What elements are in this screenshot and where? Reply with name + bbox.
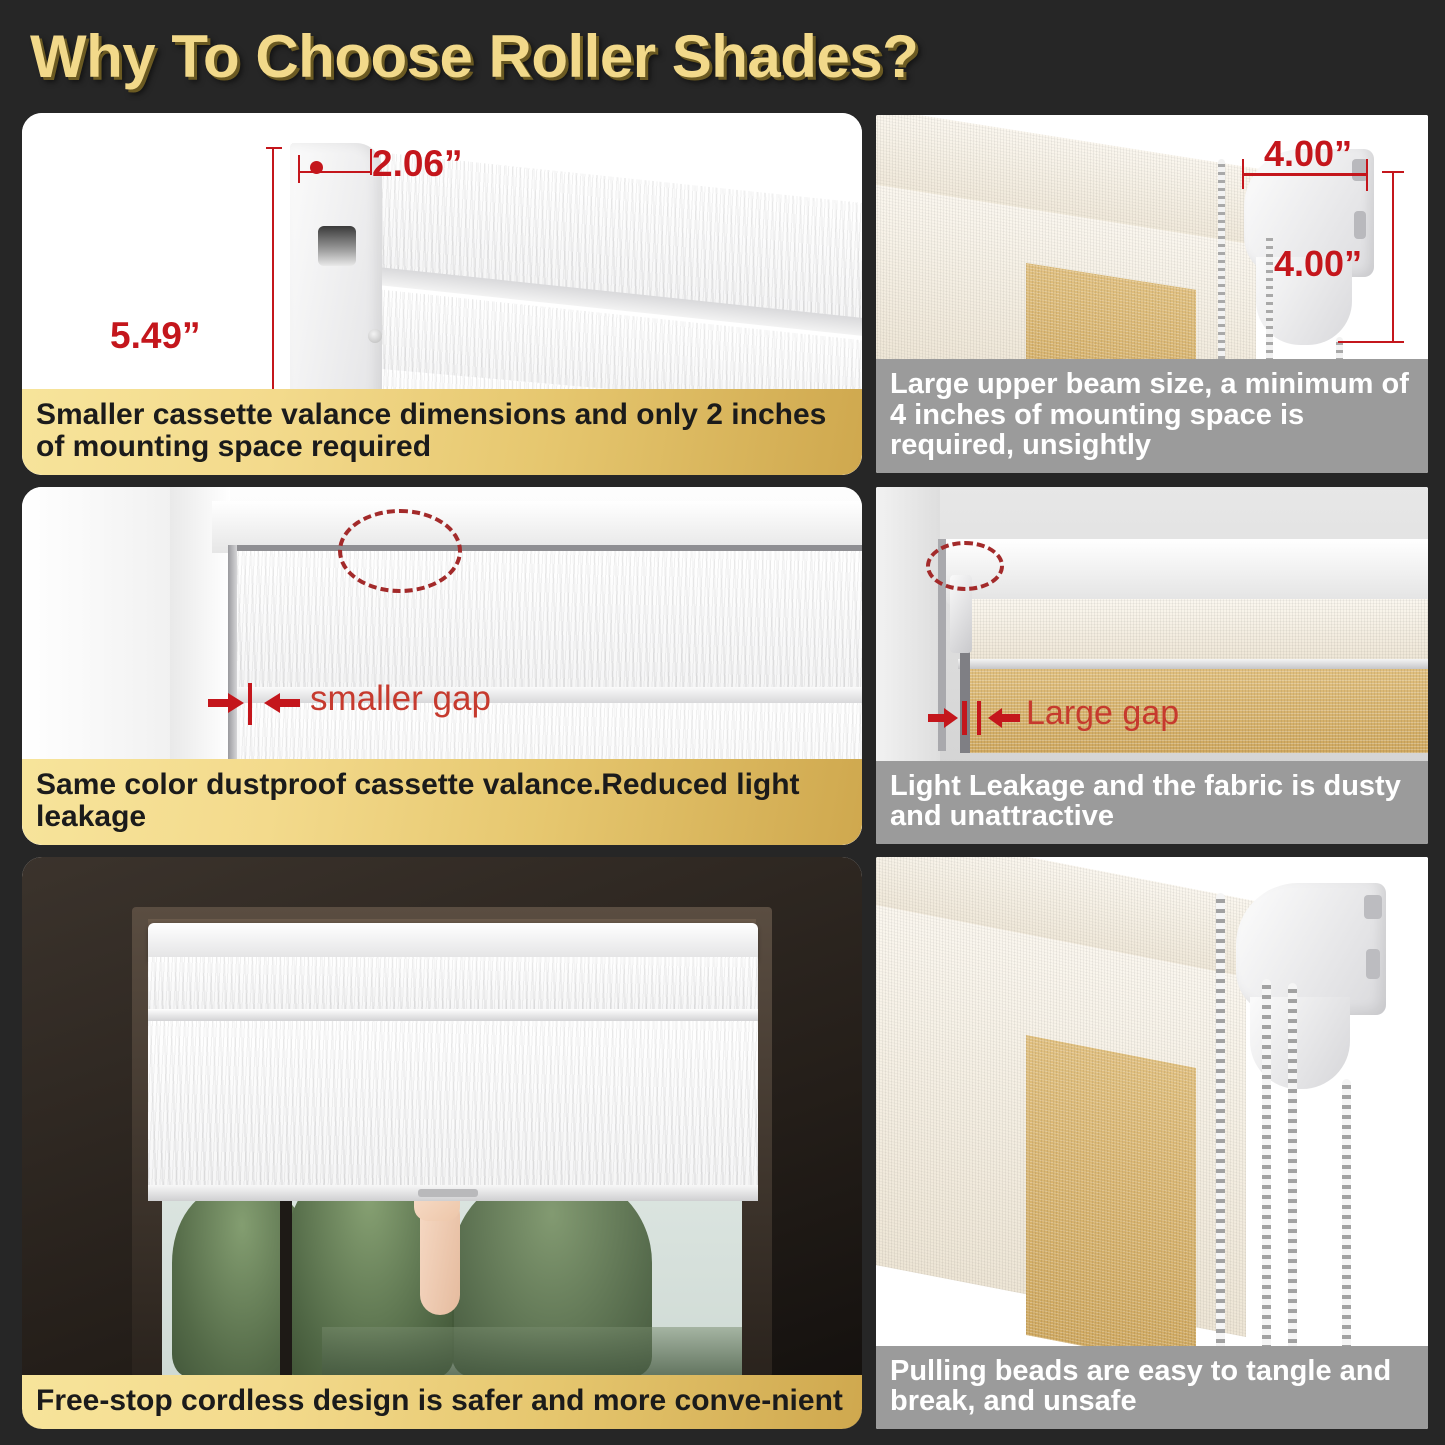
panel-pro-cordless-design: Free-stop cordless design is safer and m… [22, 857, 862, 1429]
dimension-label-width: 2.06” [372, 143, 463, 185]
dimension-label-height: 4.00” [1274, 243, 1362, 285]
arrow-left-icon [986, 706, 1020, 730]
panel-pro-cassette-dimensions: 2.06” 5.49” Smaller cassette valance dim… [22, 113, 862, 475]
panel-con-pulling-beads: Pulling beads are easy to tangle and bre… [876, 857, 1428, 1429]
infographic-page: Why To Choose Roller Shades? 2.06” [0, 0, 1445, 1445]
caption-con-pulling-beads: Pulling beads are easy to tangle and bre… [876, 1346, 1428, 1429]
arrow-right-icon [208, 690, 246, 716]
panel-pro-dustproof-valance: smaller gap Same color dustproof cassett… [22, 487, 862, 845]
pulling-beads-photo [876, 857, 1428, 1429]
caption-pro-dustproof-valance: Same color dustproof cassette valance.Re… [22, 759, 862, 845]
panel-con-large-upper-beam: 4.00” 4.00” Large upper beam size, a min… [876, 115, 1428, 473]
page-title: Why To Choose Roller Shades? [30, 22, 918, 91]
highlight-circle-icon [338, 509, 462, 593]
caption-pro-cordless-design: Free-stop cordless design is safer and m… [22, 1375, 862, 1429]
caption-pro-cassette-dimensions: Smaller cassette valance dimensions and … [22, 389, 862, 475]
arrow-left-icon [262, 690, 300, 716]
panel-con-light-leakage: Large gap Light Leakage and the fabric i… [876, 487, 1428, 844]
gap-callout-label: smaller gap [310, 679, 491, 719]
dimension-label-height: 5.49” [110, 315, 201, 357]
gap-callout-label: Large gap [1026, 694, 1179, 733]
highlight-circle-icon [926, 541, 1004, 591]
caption-con-light-leakage: Light Leakage and the fabric is dusty an… [876, 761, 1428, 844]
caption-con-large-upper-beam: Large upper beam size, a minimum of 4 in… [876, 359, 1428, 473]
dimension-label-width: 4.00” [1264, 133, 1352, 175]
cordless-shade-photo [22, 857, 862, 1429]
arrow-right-icon [928, 706, 960, 730]
